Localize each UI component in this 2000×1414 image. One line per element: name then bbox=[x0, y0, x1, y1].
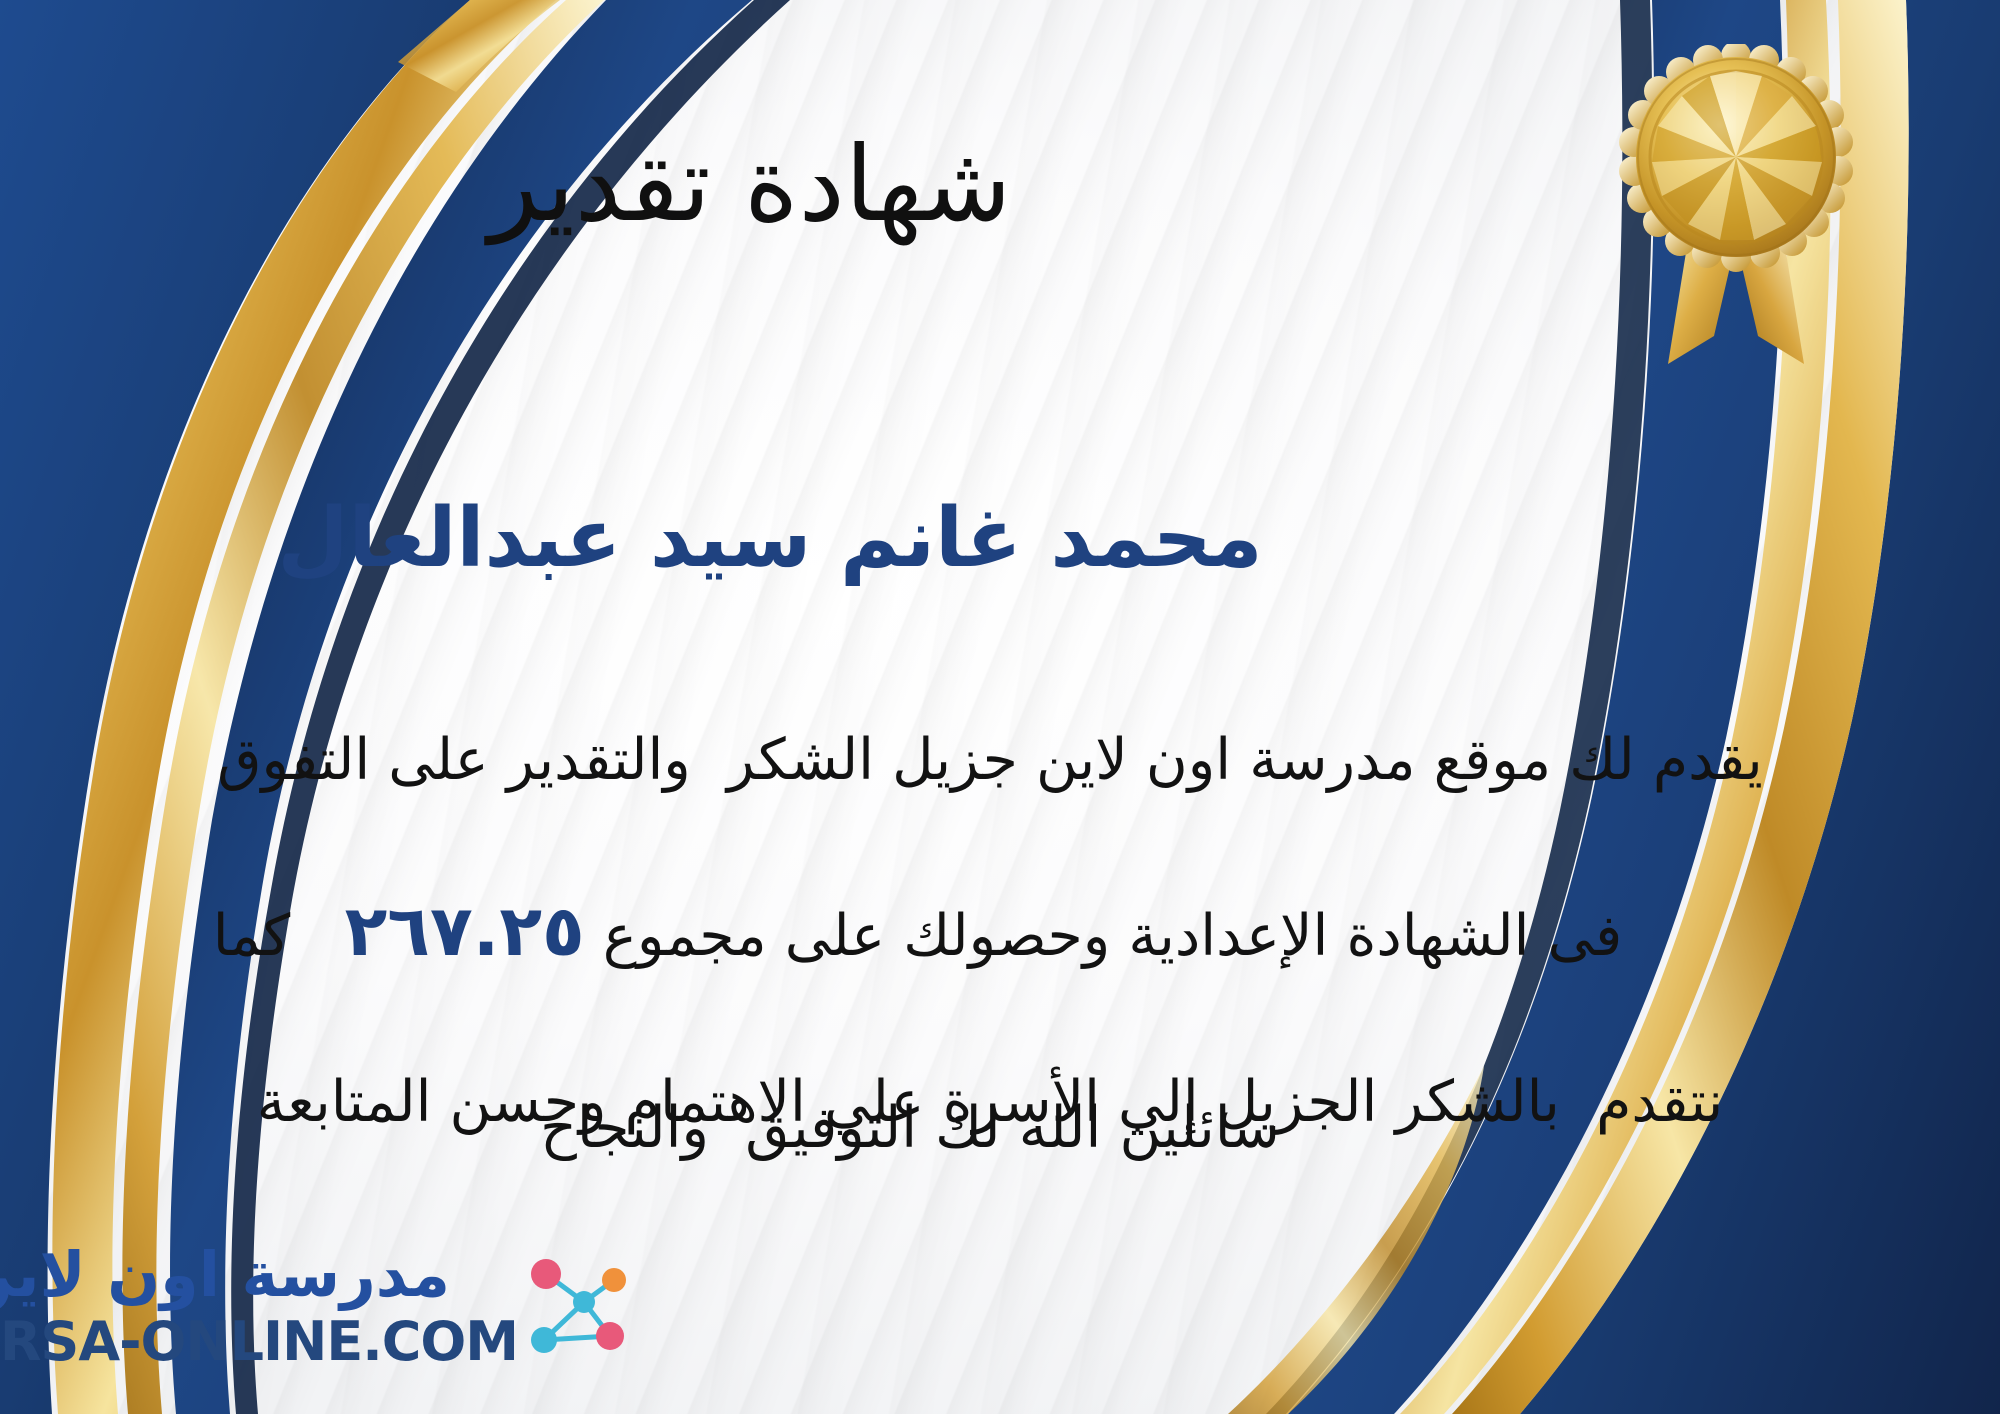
brand-website-url: MADRSA-ONLINE.COM bbox=[0, 1310, 518, 1373]
certificate-body: يقدم لك موقع مدرسة اون لاين جزيل الشكر و… bbox=[60, 720, 1920, 1143]
network-nodes-icon bbox=[510, 1244, 640, 1374]
body-line-1: يقدم لك موقع مدرسة اون لاين جزيل الشكر و… bbox=[60, 720, 1920, 801]
certificate-content: شهادة تقدير محمد غانم سيد عبدالعال يقدم … bbox=[60, 0, 1900, 1414]
brand-name-arabic: مدرسة اون لاين bbox=[0, 1238, 450, 1311]
closing-wish: سائلين الله لك التوفيق والنجاح bbox=[60, 1095, 1760, 1161]
certificate-canvas: شهادة تقدير محمد غانم سيد عبدالعال يقدم … bbox=[0, 0, 2000, 1414]
recipient-name: محمد غانم سيد عبدالعال bbox=[60, 498, 1480, 580]
certificate-title: شهادة تقدير bbox=[60, 132, 1440, 236]
body-line-2: فى الشهادة الإعدادية وحصولك على مجموع ٢٦… bbox=[60, 801, 1920, 1062]
body-line-2-suffix: كما bbox=[213, 903, 345, 969]
body-line-2-prefix: فى الشهادة الإعدادية وحصولك على مجموع bbox=[585, 903, 1623, 969]
brand-logo[interactable]: مدرسة اون لاين MADRSA-ONLINE.COM bbox=[36, 1238, 656, 1388]
total-score-value: ٢٦٧.٢٥ bbox=[345, 890, 585, 972]
